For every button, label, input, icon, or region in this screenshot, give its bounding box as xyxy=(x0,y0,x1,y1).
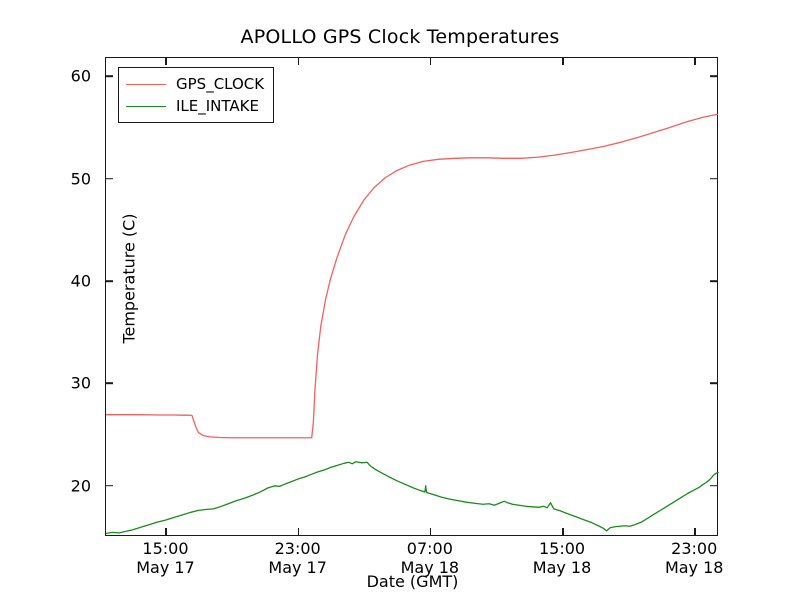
y-tick-label-40: 40 xyxy=(31,272,91,291)
x-tick-time: 15:00 xyxy=(95,539,235,558)
x-tick-mark-top xyxy=(298,58,300,65)
series-line-ile-intake xyxy=(106,462,718,534)
x-tick-time: 23:00 xyxy=(624,539,764,558)
y-tick-mark-60 xyxy=(106,76,113,78)
x-tick-mark xyxy=(165,528,167,535)
y-tick-mark-40 xyxy=(106,280,113,282)
legend-line-swatch xyxy=(126,84,166,85)
x-tick-label: 23:00May 18 xyxy=(624,539,764,577)
figure-canvas: APOLLO GPS Clock Temperatures Temperatur… xyxy=(0,0,800,600)
x-tick-date: May 17 xyxy=(95,558,235,577)
y-tick-label-50: 50 xyxy=(31,169,91,188)
y-tick-label-60: 60 xyxy=(31,67,91,86)
x-tick-time: 15:00 xyxy=(492,539,632,558)
legend-entry-ile-intake: ILE_INTAKE xyxy=(126,95,264,117)
x-tick-mark xyxy=(430,528,432,535)
y-tick-mark-30 xyxy=(106,383,113,385)
y-tick-mark-right-60 xyxy=(710,76,717,78)
y-tick-mark-50 xyxy=(106,178,113,180)
legend-entry-gps-clock: GPS_CLOCK xyxy=(126,73,264,95)
x-tick-label: 07:00May 18 xyxy=(360,539,500,577)
x-tick-mark-top xyxy=(430,58,432,65)
y-tick-label-20: 20 xyxy=(31,476,91,495)
x-tick-mark xyxy=(694,528,696,535)
x-tick-date: May 18 xyxy=(624,558,764,577)
plot-area: Temperature (C) Date (GMT) 2030405060 15… xyxy=(105,57,718,536)
plot-lines-svg xyxy=(106,58,719,537)
y-tick-mark-right-20 xyxy=(710,485,717,487)
x-tick-date: May 18 xyxy=(360,558,500,577)
y-tick-mark-right-30 xyxy=(710,383,717,385)
y-axis-label: Temperature (C) xyxy=(120,59,139,499)
chart-title: APOLLO GPS Clock Temperatures xyxy=(0,26,800,48)
x-tick-mark-top xyxy=(165,58,167,65)
x-tick-label: 15:00May 17 xyxy=(95,539,235,577)
x-tick-mark xyxy=(562,528,564,535)
x-tick-label: 15:00May 18 xyxy=(492,539,632,577)
legend-label: ILE_INTAKE xyxy=(176,97,259,115)
x-tick-time: 23:00 xyxy=(228,539,368,558)
x-tick-mark-top xyxy=(694,58,696,65)
x-tick-date: May 18 xyxy=(492,558,632,577)
x-tick-label: 23:00May 17 xyxy=(228,539,368,577)
x-tick-time: 07:00 xyxy=(360,539,500,558)
x-tick-mark xyxy=(298,528,300,535)
x-tick-mark-top xyxy=(562,58,564,65)
y-tick-mark-right-40 xyxy=(710,280,717,282)
legend-label: GPS_CLOCK xyxy=(176,75,264,93)
y-tick-mark-20 xyxy=(106,485,113,487)
series-line-gps-clock xyxy=(106,114,717,437)
legend-line-swatch xyxy=(126,106,166,107)
y-tick-mark-right-50 xyxy=(710,178,717,180)
x-tick-date: May 17 xyxy=(228,558,368,577)
y-tick-label-30: 30 xyxy=(31,374,91,393)
legend-box: GPS_CLOCKILE_INTAKE xyxy=(118,67,274,123)
